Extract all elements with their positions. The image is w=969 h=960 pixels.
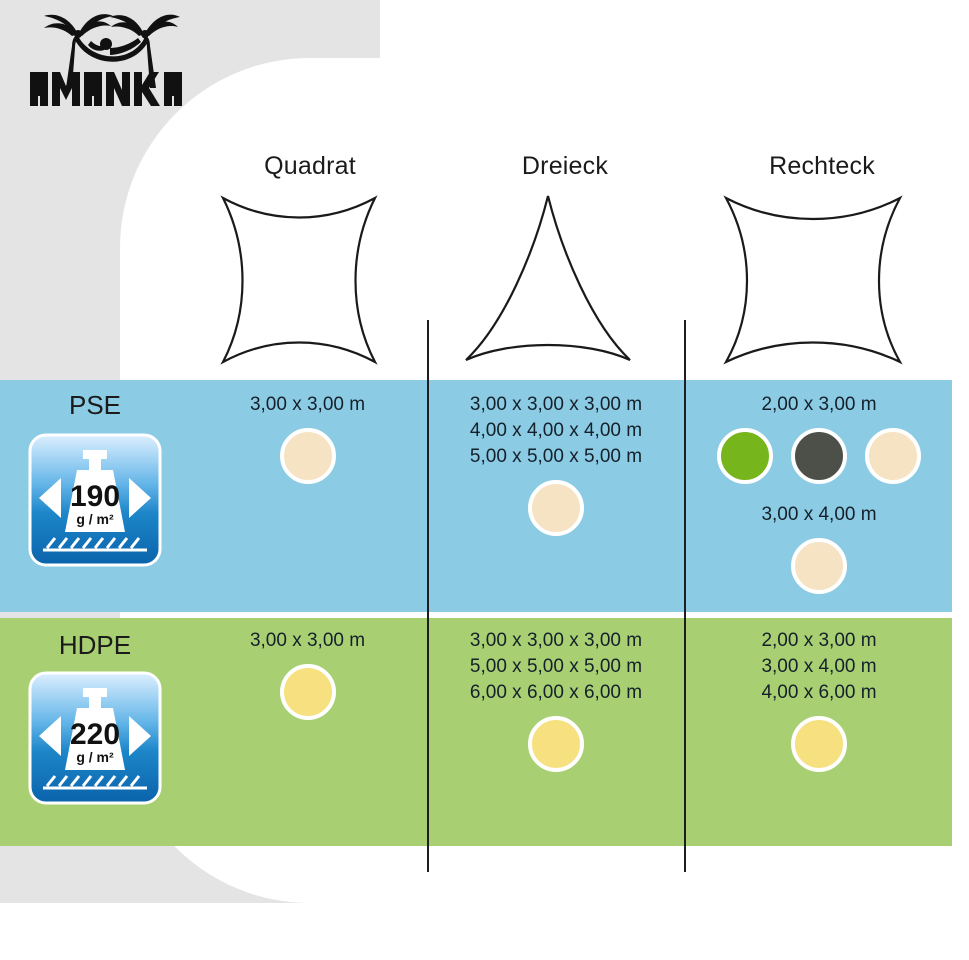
weight-badge-pse: 190 g / m² xyxy=(27,432,163,568)
cell-hdpe-dreieck: 3,00 x 3,00 x 3,00 m5,00 x 5,00 x 5,00 m… xyxy=(430,628,682,772)
color-swatch-yellow[interactable] xyxy=(791,716,847,772)
color-swatch-row xyxy=(688,428,950,484)
row-label-hdpe: HDPE xyxy=(0,630,190,661)
column-header-dreieck: Dreieck xyxy=(455,152,675,181)
badge-weight-unit: g / m² xyxy=(76,749,114,765)
row-label-pse: PSE xyxy=(0,390,190,421)
column-divider-2 xyxy=(684,320,686,872)
color-swatch-cream[interactable] xyxy=(791,538,847,594)
palm-trees-hammock-logo-icon xyxy=(18,10,268,110)
dimension-text: 5,00 x 5,00 x 5,00 m xyxy=(430,654,682,680)
bottom-white-fill xyxy=(0,903,969,960)
dimension-text: 2,00 x 3,00 m xyxy=(688,628,950,654)
color-swatch-cream[interactable] xyxy=(280,428,336,484)
cell-group-spacer xyxy=(688,484,950,502)
triangle-sail-shape xyxy=(458,190,638,373)
cell-hdpe-rechteck: 2,00 x 3,00 m3,00 x 4,00 m4,00 x 6,00 m xyxy=(688,628,950,772)
color-swatch-cream[interactable] xyxy=(865,428,921,484)
color-swatch-yellow[interactable] xyxy=(280,664,336,720)
dimension-text: 4,00 x 4,00 x 4,00 m xyxy=(430,418,682,444)
badge-weight-value: 220 xyxy=(70,718,120,751)
triangle-sail-shape-icon xyxy=(458,190,638,368)
dimension-text: 2,00 x 3,00 m xyxy=(688,392,950,418)
dimension-text: 5,00 x 5,00 x 5,00 m xyxy=(430,444,682,470)
dimension-text: 6,00 x 6,00 x 6,00 m xyxy=(430,680,682,706)
color-swatch-row xyxy=(688,716,950,772)
color-swatch-anthracite[interactable] xyxy=(791,428,847,484)
amanka-logo xyxy=(18,10,268,110)
weight-density-icon: 220 g / m² xyxy=(27,670,163,806)
color-swatch-row xyxy=(190,664,425,720)
cell-pse-quadrat: 3,00 x 3,00 m xyxy=(190,392,425,484)
color-swatch-cream[interactable] xyxy=(528,480,584,536)
dimension-text: 4,00 x 6,00 m xyxy=(688,680,950,706)
column-header-quadrat: Quadrat xyxy=(200,152,420,181)
dimension-text: 3,00 x 3,00 m xyxy=(190,628,425,654)
weight-density-icon: 190 g / m² xyxy=(27,432,163,568)
color-swatch-row xyxy=(430,480,682,536)
square-sail-shape-icon xyxy=(215,190,383,368)
badge-weight-unit: g / m² xyxy=(76,511,114,527)
rectangle-sail-shape-icon xyxy=(718,190,908,368)
rectangle-sail-shape xyxy=(718,190,908,373)
cell-hdpe-quadrat: 3,00 x 3,00 m xyxy=(190,628,425,720)
color-swatch-row xyxy=(430,716,682,772)
dimension-text: 3,00 x 3,00 x 3,00 m xyxy=(430,628,682,654)
dimension-text: 3,00 x 3,00 m xyxy=(190,392,425,418)
dimension-text: 3,00 x 3,00 x 3,00 m xyxy=(430,392,682,418)
top-white-fill xyxy=(380,0,969,60)
color-swatch-green[interactable] xyxy=(717,428,773,484)
weight-badge-hdpe: 220 g / m² xyxy=(27,670,163,806)
cell-pse-dreieck: 3,00 x 3,00 x 3,00 m4,00 x 4,00 x 4,00 m… xyxy=(430,392,682,536)
column-header-rechteck: Rechteck xyxy=(712,152,932,181)
cell-pse-rechteck: 2,00 x 3,00 m3,00 x 4,00 m xyxy=(688,392,950,594)
color-swatch-row xyxy=(688,538,950,594)
column-divider-1 xyxy=(427,320,429,872)
color-swatch-row xyxy=(190,428,425,484)
badge-weight-value: 190 xyxy=(70,480,120,513)
dimension-text: 3,00 x 4,00 m xyxy=(688,654,950,680)
color-swatch-yellow[interactable] xyxy=(528,716,584,772)
square-sail-shape xyxy=(215,190,383,373)
dimension-text: 3,00 x 4,00 m xyxy=(688,502,950,528)
